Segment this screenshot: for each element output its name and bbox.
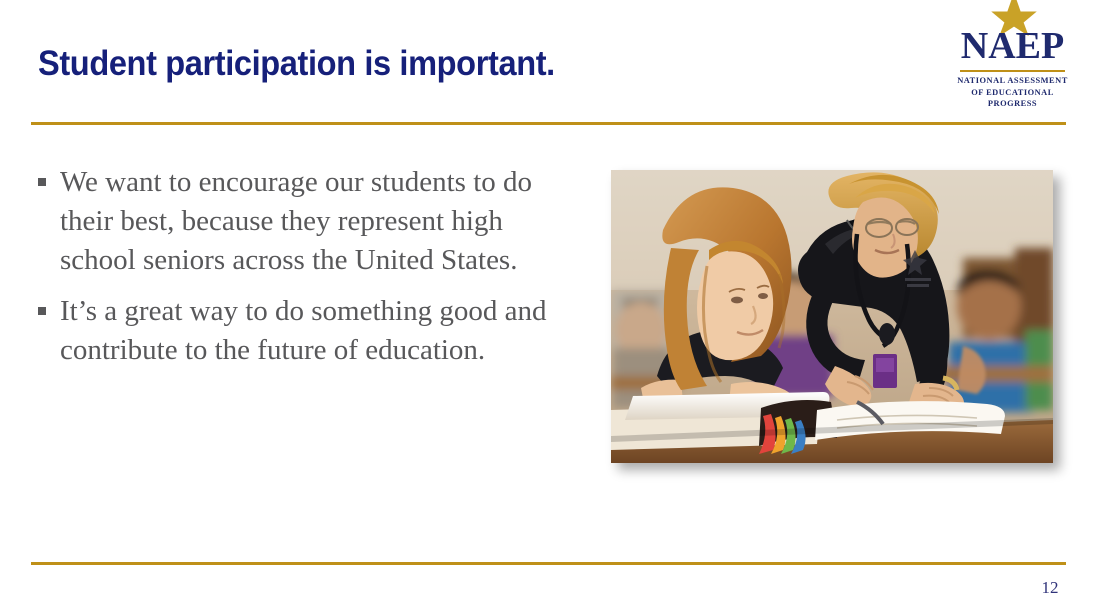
page-number: 12 bbox=[1030, 578, 1070, 598]
square-bullet-icon bbox=[38, 178, 46, 186]
naep-underline bbox=[960, 70, 1065, 72]
divider-bottom bbox=[31, 562, 1066, 565]
classroom-photo bbox=[611, 170, 1053, 463]
slide-canvas: Student participation is important. We w… bbox=[0, 0, 1103, 613]
list-item-text: We want to encourage our students to do … bbox=[60, 166, 532, 276]
naep-subtitle-line-2: OF EDUCATIONAL bbox=[950, 87, 1075, 99]
classroom-photo-image bbox=[611, 170, 1053, 463]
square-bullet-icon bbox=[38, 307, 46, 315]
divider-top bbox=[31, 122, 1066, 125]
page-title: Student participation is important. bbox=[38, 44, 555, 84]
list-item: It’s a great way to do something good an… bbox=[38, 292, 583, 370]
naep-logo: NAEP NATIONAL ASSESSMENT OF EDUCATIONAL … bbox=[950, 0, 1075, 112]
naep-subtitle-line-1: NATIONAL ASSESSMENT bbox=[950, 75, 1075, 87]
list-item-text: It’s a great way to do something good an… bbox=[60, 295, 546, 366]
list-item: We want to encourage our students to do … bbox=[38, 163, 583, 280]
naep-subtitle-line-3: PROGRESS bbox=[950, 98, 1075, 110]
bullet-list: We want to encourage our students to do … bbox=[38, 163, 583, 370]
naep-wordmark: NAEP bbox=[950, 26, 1075, 66]
naep-subtitle: NATIONAL ASSESSMENT OF EDUCATIONAL PROGR… bbox=[950, 75, 1075, 110]
